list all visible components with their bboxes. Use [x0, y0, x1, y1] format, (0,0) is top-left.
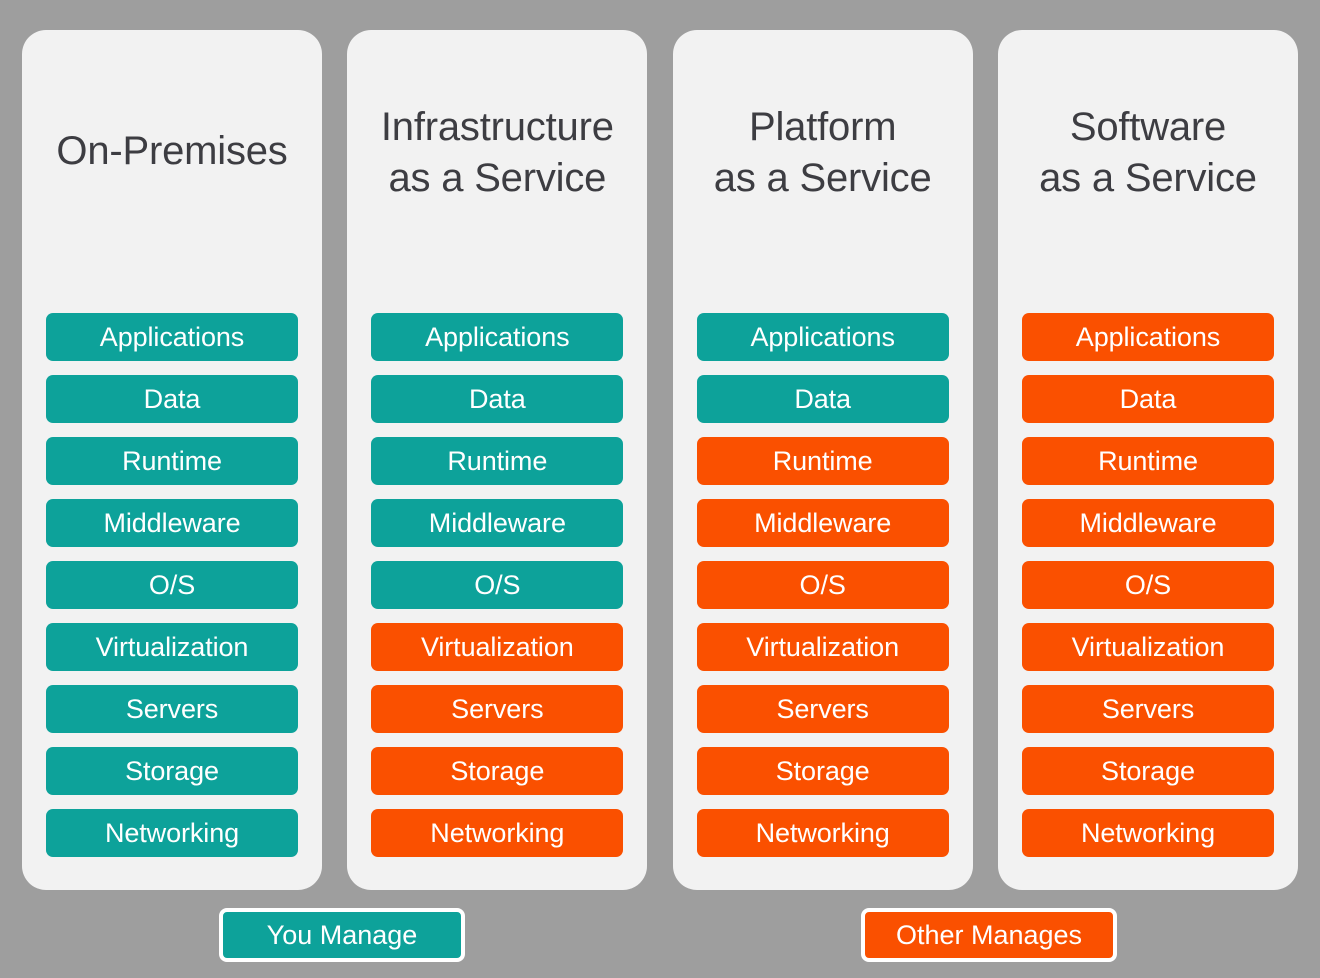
layer-infrastructure-as-a-service-middleware: Middleware	[371, 499, 623, 547]
layer-on-premises-storage: Storage	[46, 747, 298, 795]
layer-platform-as-a-service-networking: Networking	[697, 809, 949, 857]
cloud-service-models-diagram: On-PremisesApplicationsDataRuntimeMiddle…	[0, 0, 1320, 978]
layer-platform-as-a-service-o-s: O/S	[697, 561, 949, 609]
legend-other-manages-label: Other Manages	[896, 920, 1082, 951]
layer-software-as-a-service-applications: Applications	[1022, 313, 1274, 361]
legend-you-manage-label: You Manage	[267, 920, 418, 951]
layer-software-as-a-service-middleware: Middleware	[1022, 499, 1274, 547]
layer-on-premises-servers: Servers	[46, 685, 298, 733]
service-model-card-platform-as-a-service: Platform as a ServiceApplicationsDataRun…	[673, 30, 973, 890]
service-model-card-infrastructure-as-a-service: Infrastructure as a ServiceApplicationsD…	[347, 30, 647, 890]
legend: You Manage Other Manages	[0, 908, 1320, 968]
layer-software-as-a-service-data: Data	[1022, 375, 1274, 423]
layer-software-as-a-service-storage: Storage	[1022, 747, 1274, 795]
layer-software-as-a-service-servers: Servers	[1022, 685, 1274, 733]
stack-infrastructure-as-a-service: ApplicationsDataRuntimeMiddlewareO/SVirt…	[371, 313, 623, 857]
layer-on-premises-middleware: Middleware	[46, 499, 298, 547]
layer-infrastructure-as-a-service-virtualization: Virtualization	[371, 623, 623, 671]
card-title-platform-as-a-service: Platform as a Service	[714, 30, 932, 204]
layer-software-as-a-service-networking: Networking	[1022, 809, 1274, 857]
layer-software-as-a-service-runtime: Runtime	[1022, 437, 1274, 485]
layer-platform-as-a-service-virtualization: Virtualization	[697, 623, 949, 671]
layer-platform-as-a-service-middleware: Middleware	[697, 499, 949, 547]
card-title-on-premises: On-Premises	[56, 30, 287, 177]
layer-platform-as-a-service-storage: Storage	[697, 747, 949, 795]
layer-software-as-a-service-o-s: O/S	[1022, 561, 1274, 609]
service-model-columns: On-PremisesApplicationsDataRuntimeMiddle…	[0, 0, 1320, 890]
layer-on-premises-runtime: Runtime	[46, 437, 298, 485]
layer-infrastructure-as-a-service-networking: Networking	[371, 809, 623, 857]
legend-you-manage: You Manage	[219, 908, 465, 962]
layer-infrastructure-as-a-service-storage: Storage	[371, 747, 623, 795]
stack-platform-as-a-service: ApplicationsDataRuntimeMiddlewareO/SVirt…	[697, 313, 949, 857]
layer-infrastructure-as-a-service-servers: Servers	[371, 685, 623, 733]
layer-software-as-a-service-virtualization: Virtualization	[1022, 623, 1274, 671]
layer-on-premises-applications: Applications	[46, 313, 298, 361]
service-model-card-software-as-a-service: Software as a ServiceApplicationsDataRun…	[998, 30, 1298, 890]
service-model-card-on-premises: On-PremisesApplicationsDataRuntimeMiddle…	[22, 30, 322, 890]
layer-infrastructure-as-a-service-runtime: Runtime	[371, 437, 623, 485]
layer-platform-as-a-service-data: Data	[697, 375, 949, 423]
layer-platform-as-a-service-applications: Applications	[697, 313, 949, 361]
layer-platform-as-a-service-runtime: Runtime	[697, 437, 949, 485]
legend-other-manages: Other Manages	[861, 908, 1117, 962]
layer-on-premises-o-s: O/S	[46, 561, 298, 609]
layer-infrastructure-as-a-service-o-s: O/S	[371, 561, 623, 609]
card-title-software-as-a-service: Software as a Service	[1039, 30, 1257, 204]
layer-infrastructure-as-a-service-applications: Applications	[371, 313, 623, 361]
layer-on-premises-virtualization: Virtualization	[46, 623, 298, 671]
stack-software-as-a-service: ApplicationsDataRuntimeMiddlewareO/SVirt…	[1022, 313, 1274, 857]
layer-on-premises-networking: Networking	[46, 809, 298, 857]
stack-on-premises: ApplicationsDataRuntimeMiddlewareO/SVirt…	[46, 313, 298, 857]
layer-on-premises-data: Data	[46, 375, 298, 423]
layer-platform-as-a-service-servers: Servers	[697, 685, 949, 733]
card-title-infrastructure-as-a-service: Infrastructure as a Service	[381, 30, 614, 204]
layer-infrastructure-as-a-service-data: Data	[371, 375, 623, 423]
